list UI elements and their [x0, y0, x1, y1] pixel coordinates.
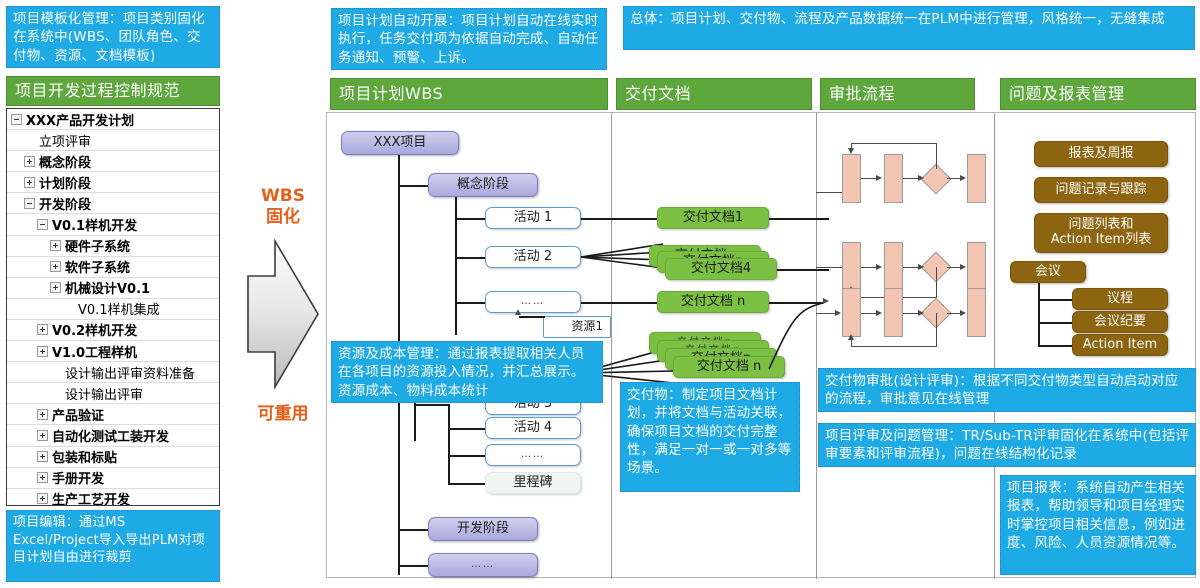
wbs-node-dev-phase[interactable]: 开发阶段: [428, 517, 538, 541]
flow3-step-2[interactable]: [884, 288, 903, 337]
wbs-node-activity-more-1[interactable]: ……: [485, 291, 581, 313]
issues-line-to-action-item: [1038, 345, 1072, 347]
flow2-step-1[interactable]: [842, 242, 861, 291]
project-tree-panel: XXX产品开发计划立项评审概念阶段计划阶段开发阶段V0.1样机开发硬件子系统软件…: [6, 108, 220, 506]
flow2-loop-v1: [936, 267, 937, 297]
divider-approval-issues: [994, 113, 995, 579]
flow2-l3: [947, 267, 961, 268]
wbs-line-to-milestone: [448, 483, 485, 485]
link-doc4-approval: [777, 269, 829, 271]
issues-node-minutes[interactable]: 会议纪要: [1072, 311, 1168, 333]
tree-spacer-icon: [63, 303, 74, 314]
tree-row[interactable]: V0.2样机开发: [7, 320, 219, 341]
left-panel-title: 项目开发过程控制规范: [6, 76, 220, 106]
tree-row-label: 软件子系统: [65, 257, 130, 276]
wbs-node-concept-label: 概念阶段: [457, 178, 509, 193]
wbs-node-milestone-label: 里程碑: [513, 476, 552, 491]
flow1-step-3[interactable]: [967, 154, 986, 203]
flow1-loop-h: [851, 143, 937, 144]
tree-row[interactable]: 自动化测试工装开发: [7, 425, 219, 446]
callout-deliverable: 交付物：制定项目文档计划，并将文档与活动关联，确保项目文档的交付完整性，满足一对…: [620, 382, 800, 492]
issues-node-minutes-label: 会议纪要: [1094, 315, 1146, 330]
flow2-l2: [903, 267, 919, 268]
doc-node-n-label: 交付文档 n: [681, 295, 745, 310]
wbs-line-to-activity-more-2: [448, 455, 485, 457]
tree-row[interactable]: 机械设计V0.1: [7, 278, 219, 299]
flow3-in: [816, 313, 836, 314]
tree-row-label: V0.1样机开发: [52, 215, 137, 234]
issues-node-list-line1: 问题列表和: [1068, 218, 1133, 233]
flow3-a2-icon: [918, 310, 924, 316]
tree-row-label: 生产工艺开发: [52, 489, 130, 506]
link-doc1-approval: [769, 218, 829, 220]
tree-row[interactable]: 软件子系统: [7, 257, 219, 278]
section-header-docs: 交付文档: [616, 78, 812, 110]
expand-icon[interactable]: [50, 240, 61, 251]
expand-icon[interactable]: [37, 346, 48, 357]
issues-node-report[interactable]: 报表及周报: [1034, 141, 1168, 167]
collapse-icon[interactable]: [37, 219, 48, 230]
wbs-node-activity-more-1-label: ……: [521, 296, 545, 308]
flow3-loop-arrow-icon: [848, 334, 854, 340]
reusable-label: 可重用: [240, 404, 326, 425]
tree-row[interactable]: 概念阶段: [7, 151, 219, 172]
flow3-in-arrow-icon: [835, 310, 841, 316]
callout-project-report: 项目报表：系统自动产生相关报表，帮助领导和项目经理实时掌控项目相关信息，例如进度…: [1000, 475, 1196, 575]
wbs-node-activity-more-2[interactable]: ……: [485, 444, 581, 466]
doc-node-1-label: 交付文档1: [683, 211, 743, 226]
wbs-line-to-dev-phase: [398, 529, 428, 531]
tree-row-label: 硬件子系统: [65, 236, 130, 255]
tree-row-label: 自动化测试工装开发: [52, 426, 169, 445]
tree-row-label: 立项评审: [39, 131, 91, 150]
doc-node-4[interactable]: 交付文档4: [665, 258, 777, 280]
flow1-l2: [903, 178, 919, 179]
wbs-arrow-resource-icon: [515, 309, 521, 315]
issues-node-action-item[interactable]: Action Item: [1072, 334, 1168, 356]
tree-row-label: 机械设计V0.1: [65, 278, 150, 297]
link-docn-approval: [769, 302, 823, 304]
tree-row[interactable]: V0.1样机集成: [7, 299, 219, 320]
section-header-approval-label: 审批流程: [829, 86, 895, 102]
big-right-arrow-icon: [244, 238, 322, 390]
section-header-issues-label: 问题及报表管理: [1009, 86, 1125, 102]
diagram-root: 项目模板化管理：项目类别固化在系统中(WBS、团队角色、交付物、资源、文档模板)…: [0, 0, 1200, 588]
section-header-issues: 问题及报表管理: [1000, 78, 1196, 110]
issues-node-list[interactable]: 问题列表和 Action Item列表: [1034, 213, 1168, 253]
flow2-step-2[interactable]: [884, 242, 903, 291]
wbs-line-to-phase-more: [398, 565, 428, 567]
wbs-fixation-line1: WBS: [240, 186, 326, 207]
flow1-step-1[interactable]: [842, 154, 861, 203]
wbs-fixation-line2: 固化: [240, 207, 326, 228]
tree-row[interactable]: 开发阶段: [7, 193, 219, 214]
tree-row-label: XXX产品开发计划: [26, 110, 134, 129]
flow2-step-3[interactable]: [967, 242, 986, 291]
issues-node-tracking[interactable]: 问题记录与跟踪: [1034, 177, 1168, 203]
flow3-loop-h: [851, 346, 937, 347]
wbs-node-phase-more[interactable]: ……: [428, 553, 538, 577]
callout-resource-cost: 资源及成本管理：通过报表提取相关人员在各项目的资源投入情况，并汇总展示。资源成本…: [331, 341, 603, 403]
wbs-line-to-activity-more-1: [455, 302, 485, 304]
wbs-node-activity-2[interactable]: 活动 2: [485, 246, 581, 268]
tree-row[interactable]: 立项评审: [7, 130, 219, 151]
flow1-loop-v1: [936, 143, 937, 169]
flow3-step-3[interactable]: [967, 288, 986, 337]
issues-line-to-agenda: [1038, 299, 1072, 301]
expand-icon[interactable]: [37, 324, 48, 335]
tree-row[interactable]: 包装和标贴: [7, 447, 219, 468]
tree-row[interactable]: XXX产品开发计划: [7, 109, 219, 130]
wbs-line-to-activity4: [448, 428, 485, 430]
issues-node-action-item-label: Action Item: [1083, 338, 1157, 353]
flow3-a3-icon: [960, 310, 966, 316]
issues-node-report-label: 报表及周报: [1068, 147, 1133, 162]
section-header-docs-label: 交付文档: [625, 86, 691, 102]
tree-row-label: V0.2样机开发: [52, 320, 137, 339]
issues-node-agenda[interactable]: 议程: [1072, 288, 1168, 310]
flow3-loop-v2: [851, 339, 852, 346]
tree-row[interactable]: 手册开发: [7, 468, 219, 489]
callout-template-management: 项目模板化管理：项目类别固化在系统中(WBS、团队角色、交付物、资源、文档模板): [6, 6, 220, 68]
doc-node-4-label: 交付文档4: [691, 262, 751, 277]
reusable-text: 可重用: [258, 404, 309, 424]
tree-spacer-icon: [50, 388, 61, 399]
tree-row-label: 计划阶段: [39, 173, 91, 192]
wbs-node-activity-1-label: 活动 1: [514, 211, 552, 226]
tree-row[interactable]: 设计输出评审资料准备: [7, 362, 219, 383]
issues-line-to-minutes: [1038, 322, 1072, 324]
wbs-node-activity-4[interactable]: 活动 4: [485, 417, 581, 439]
link-activity1-doc1: [581, 218, 657, 220]
wbs-line-to-activity1: [455, 218, 485, 220]
expand-icon[interactable]: [50, 261, 61, 272]
flow1-loop-arrow-icon: [848, 148, 854, 154]
section-header-approval: 审批流程: [820, 78, 975, 110]
left-panel-title-label: 项目开发过程控制规范: [15, 83, 180, 99]
tree-row[interactable]: 产品验证: [7, 404, 219, 425]
doc-node-stack-b-front-label: 交付文档 n: [697, 360, 761, 375]
issues-node-list-line2: Action Item列表: [1051, 233, 1151, 248]
wbs-fixation-label: WBS 固化: [240, 186, 326, 229]
flow1-a3-icon: [960, 175, 966, 181]
callout-plan-automation: 项目计划自动开展：项目计划自动在线实时执行，任务交付项为依据自动完成、自动任务通…: [331, 8, 607, 70]
wbs-node-phase-more-label: ……: [471, 559, 495, 571]
tree-spacer-icon: [24, 135, 35, 146]
flow3-loop-v1: [936, 313, 937, 346]
flow3-step-1[interactable]: [842, 288, 861, 337]
flow1-in: [816, 192, 842, 193]
callout-project-edit: 项目编辑：通过MS Excel/Project导入导出PLM对项目计划自由进行裁…: [6, 510, 220, 582]
tree-row-label: 产品验证: [52, 405, 104, 424]
wbs-line-to-activity3: [414, 404, 448, 406]
tree-row-label: V1.0工程样机: [52, 342, 137, 361]
callout-review-issue: 项目评审及问题管理：TR/Sub-TR评审固化在系统中(包括评审要素和评审流程)…: [818, 423, 1196, 467]
flow3-l3: [947, 313, 961, 314]
flow3-l2: [903, 313, 919, 314]
flow1-a2-icon: [918, 175, 924, 181]
flow3-a1-icon: [876, 310, 882, 316]
tree-row[interactable]: V1.0工程样机: [7, 341, 219, 362]
tree-row-label: V0.1样机集成: [78, 299, 160, 318]
issues-node-meeting[interactable]: 会议: [1010, 261, 1086, 283]
section-header-wbs-label: 项目计划WBS: [339, 86, 443, 102]
flow1-a1-icon: [876, 175, 882, 181]
flow2-a2-icon: [918, 264, 924, 270]
expand-icon[interactable]: [37, 472, 48, 483]
collapse-icon[interactable]: [24, 198, 35, 209]
wbs-node-milestone[interactable]: 里程碑: [485, 472, 581, 494]
wbs-line-resource-pointer: [519, 316, 545, 318]
expand-icon[interactable]: [37, 409, 48, 420]
tree-row[interactable]: 硬件子系统: [7, 236, 219, 257]
doc-node-1[interactable]: 交付文档1: [657, 207, 769, 229]
callout-overall: 总体：项目计划、交付物、流程及产品数据统一在PLM中进行管理，风格统一，无缝集成: [623, 6, 1195, 50]
callout-deliverable-approval: 交付物审批(设计评审)：根据不同交付物类型自动启动对应的流程，审批意见在线管理: [818, 368, 1196, 412]
tree-row-label: 包装和标贴: [52, 447, 117, 466]
issues-node-tracking-label: 问题记录与跟踪: [1055, 183, 1146, 198]
tree-row[interactable]: 计划阶段: [7, 172, 219, 193]
wbs-line-to-activity2: [455, 257, 485, 259]
expand-icon[interactable]: [37, 493, 48, 504]
tree-row-label: 设计输出评审资料准备: [65, 363, 195, 382]
wbs-node-activity-more-2-label: ……: [521, 449, 545, 461]
flow2-a1-icon: [876, 264, 882, 270]
wbs-node-activity-4-label: 活动 4: [514, 421, 552, 436]
expand-icon[interactable]: [37, 430, 48, 441]
flow1-l3: [947, 178, 961, 179]
link-activity-more-docn: [581, 302, 657, 304]
wbs-node-concept-phase[interactable]: 概念阶段: [428, 173, 538, 197]
expand-icon[interactable]: [24, 177, 35, 188]
collapse-icon[interactable]: [11, 114, 22, 125]
wbs-node-root-label: XXX项目: [374, 136, 427, 151]
flow2-a3-icon: [960, 264, 966, 270]
link-docn-approval-arrow-icon: [823, 298, 829, 304]
wbs-line-to-concept: [398, 185, 428, 187]
tree-row-label: 开发阶段: [39, 194, 91, 213]
tree-spacer-icon: [50, 367, 61, 378]
flow2-in: [816, 267, 842, 268]
tree-row[interactable]: 生产工艺开发: [7, 489, 219, 506]
issues-node-meeting-label: 会议: [1035, 265, 1061, 280]
issues-line-meeting-trunk: [1038, 283, 1040, 345]
expand-icon[interactable]: [37, 451, 48, 462]
wbs-node-dev-phase-label: 开发阶段: [457, 522, 509, 537]
wbs-node-activity-1[interactable]: 活动 1: [485, 207, 581, 229]
tree-row[interactable]: V0.1样机开发: [7, 214, 219, 235]
wbs-line-activity-branch: [448, 404, 450, 484]
tree-row-label: 概念阶段: [39, 152, 91, 171]
doc-node-n[interactable]: 交付文档 n: [657, 291, 769, 313]
wbs-node-root[interactable]: XXX项目: [341, 131, 459, 155]
issues-node-agenda-label: 议程: [1107, 292, 1133, 307]
expand-icon[interactable]: [50, 282, 61, 293]
section-header-wbs: 项目计划WBS: [330, 78, 608, 110]
tree-row[interactable]: 设计输出评审: [7, 383, 219, 404]
flow1-step-2[interactable]: [884, 154, 903, 203]
wbs-node-activity-2-label: 活动 2: [514, 250, 552, 265]
tree-row-label: 设计输出评审: [65, 384, 143, 403]
expand-icon[interactable]: [24, 156, 35, 167]
tree-row-label: 手册开发: [52, 468, 104, 487]
